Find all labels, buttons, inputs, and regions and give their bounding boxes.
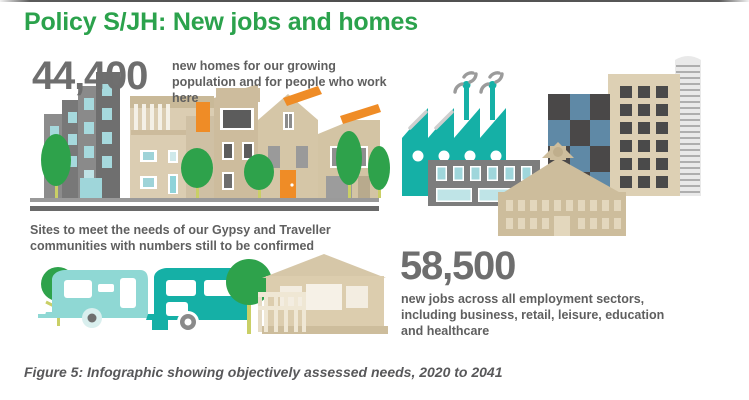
document-page: Policy S/JH: New jobs and homes [0, 0, 749, 400]
section-divider-bar [30, 206, 379, 211]
homes-figure: 44,400 [32, 56, 147, 96]
jobs-figure: 58,500 [400, 246, 515, 286]
page-top-rule [0, 0, 749, 2]
jobs-illustration [390, 46, 749, 246]
caravan-illustration [0, 246, 400, 346]
jobs-svg [390, 46, 749, 246]
sites-description: Sites to meet the needs of our Gypsy and… [30, 222, 360, 254]
mobile-home [258, 254, 388, 334]
caravan-svg [0, 246, 400, 346]
housing-ground-line [30, 198, 379, 202]
page-title: Policy S/JH: New jobs and homes [24, 8, 418, 37]
infographic-figure: 44,400 new homes for our growing populat… [0, 46, 749, 346]
tower-beige [608, 74, 680, 196]
figure-caption: Figure 5: Infographic showing objectivel… [24, 364, 503, 380]
caravan-light [38, 270, 148, 328]
jobs-description: new jobs across all employment sectors, … [401, 291, 681, 339]
homes-description: new homes for our growing population and… [172, 58, 397, 106]
